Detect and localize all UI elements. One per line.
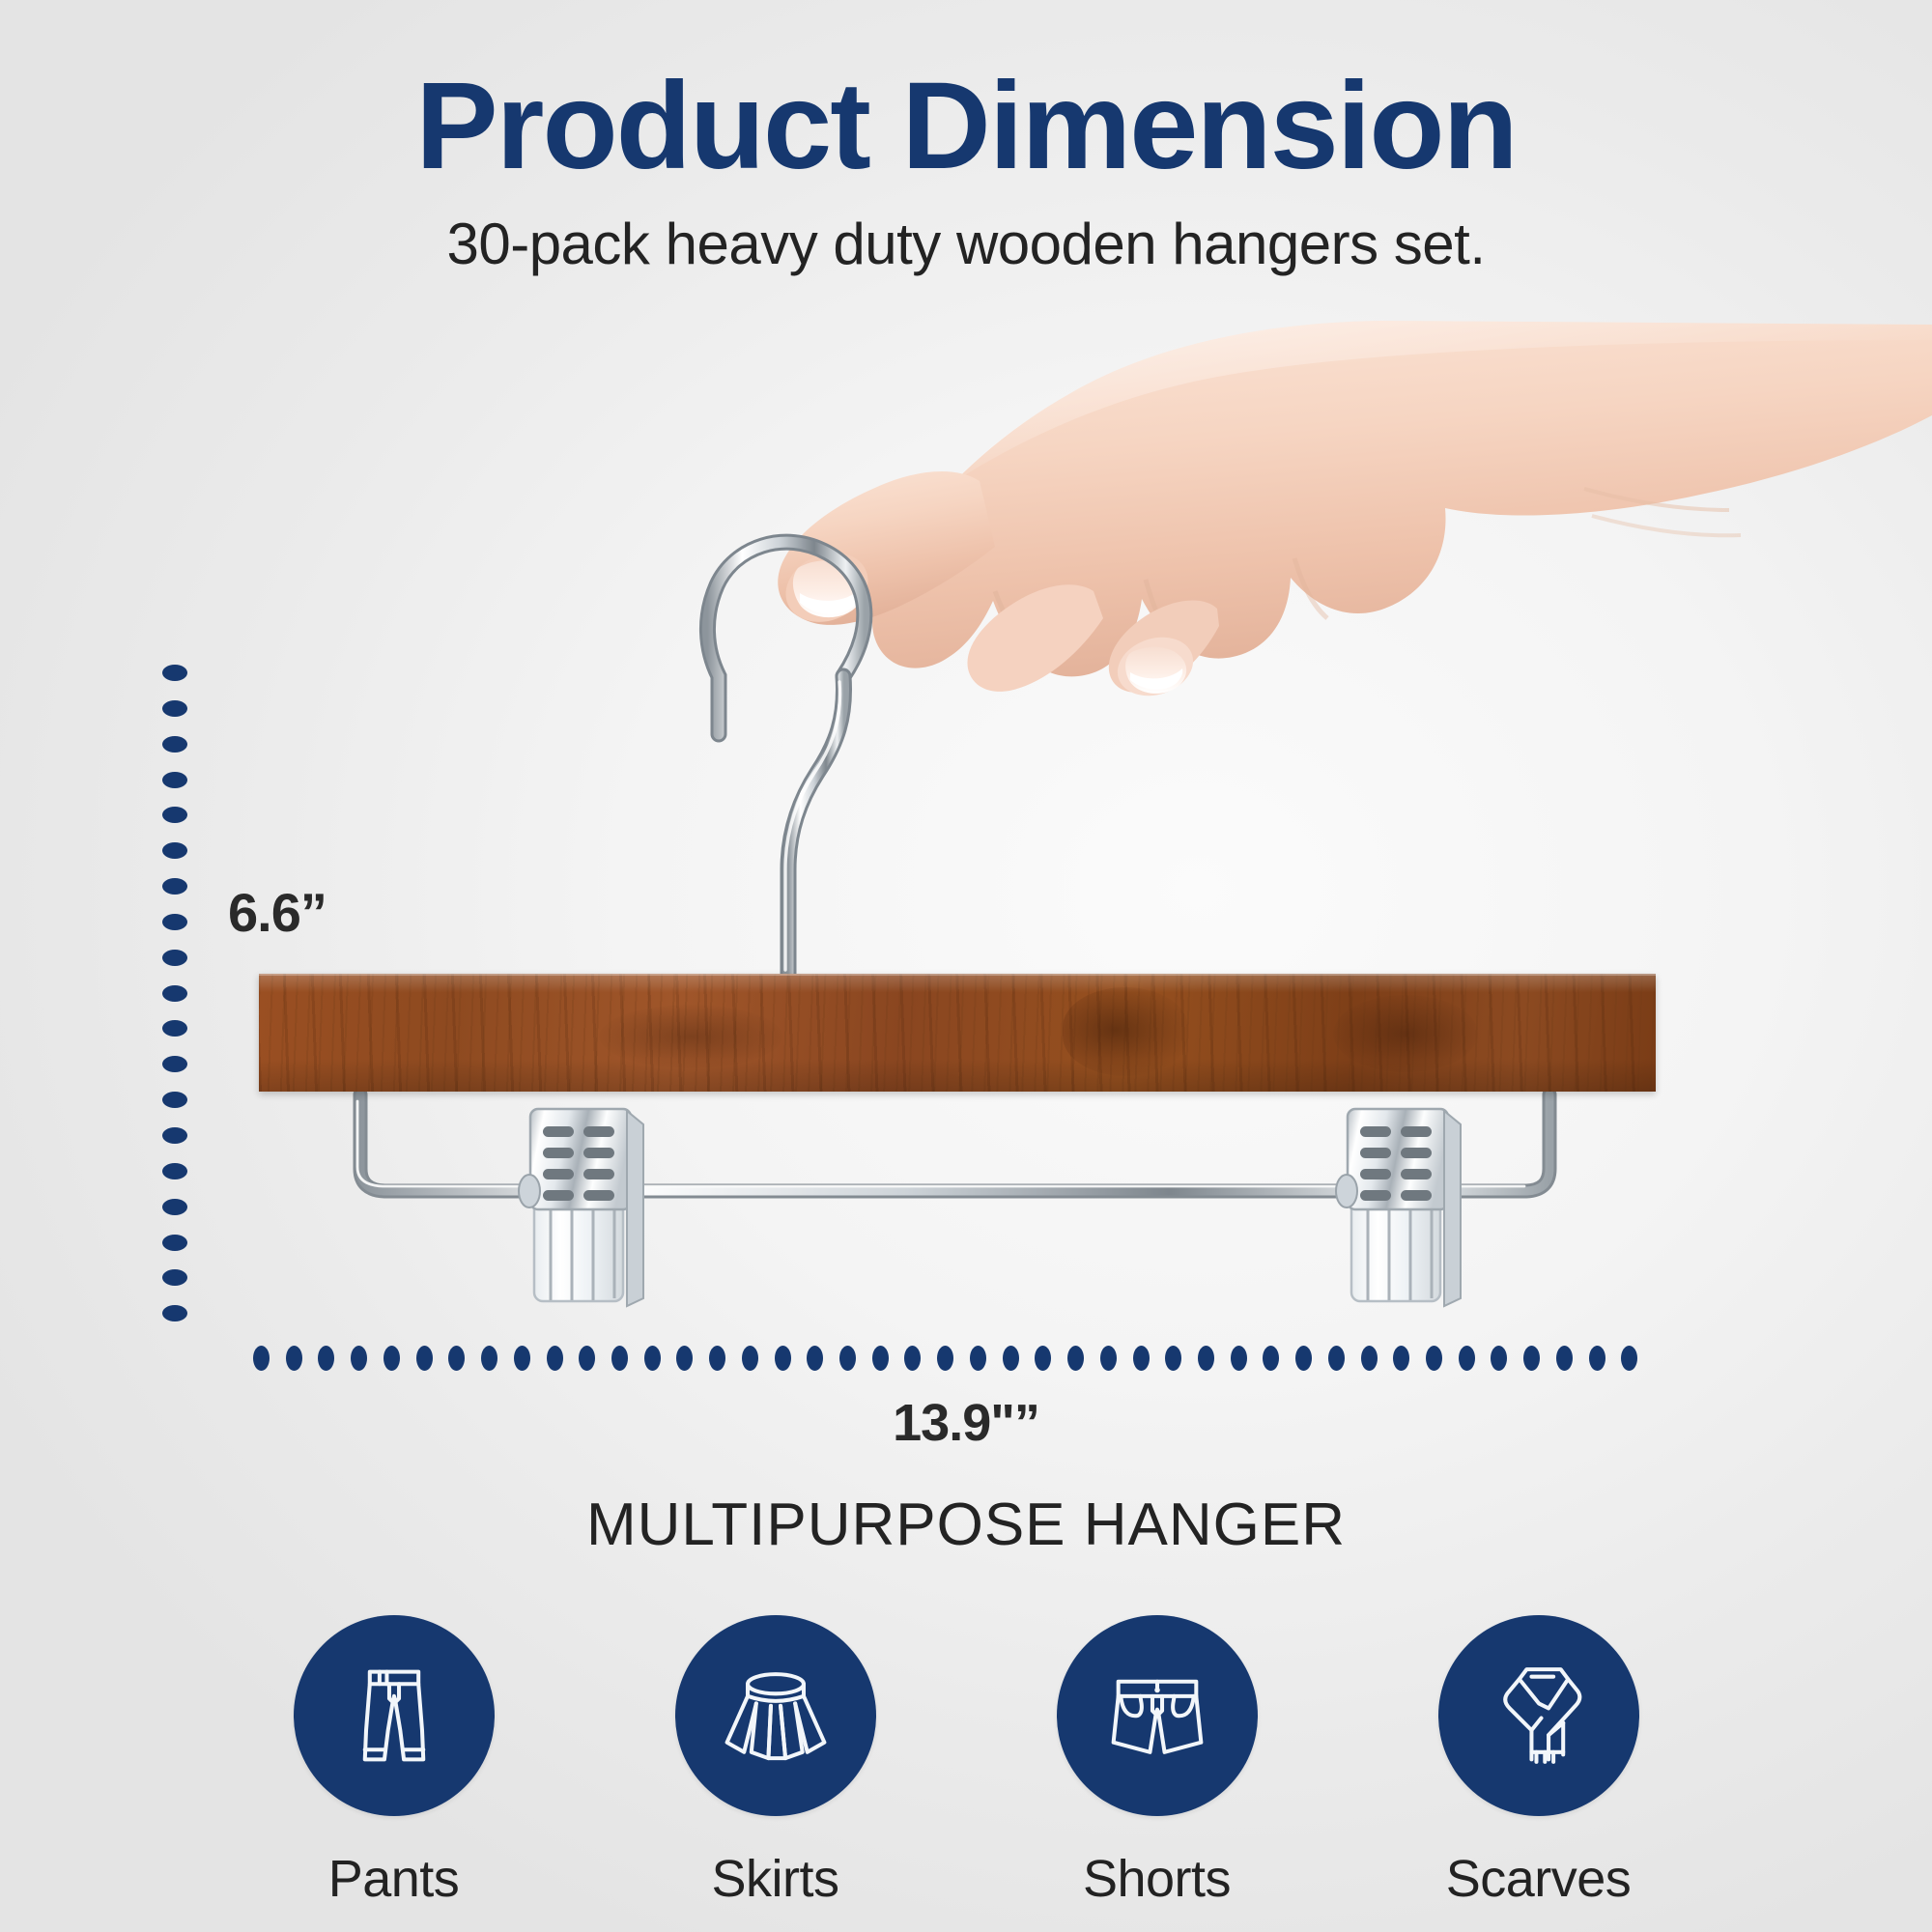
guide-dot bbox=[162, 736, 187, 753]
guide-dot bbox=[162, 1235, 187, 1251]
use-case-label: Pants bbox=[328, 1849, 460, 1909]
shorts-icon bbox=[1096, 1655, 1218, 1776]
hanger-clip-left bbox=[519, 1109, 643, 1306]
wood-grain-knot bbox=[1063, 987, 1188, 1076]
guide-dot bbox=[1003, 1346, 1019, 1371]
guide-dot bbox=[872, 1346, 889, 1371]
use-case-scarves[interactable]: Scarves bbox=[1399, 1615, 1679, 1909]
width-label: 13.9"” bbox=[0, 1393, 1932, 1453]
guide-dot bbox=[1295, 1346, 1312, 1371]
use-case-skirts[interactable]: Skirts bbox=[636, 1615, 916, 1909]
hanger-clip-right bbox=[1336, 1109, 1461, 1306]
guide-dot bbox=[1263, 1346, 1279, 1371]
guide-dot bbox=[1165, 1346, 1181, 1371]
guide-dot bbox=[162, 1127, 187, 1144]
guide-dot bbox=[481, 1346, 497, 1371]
guide-dot bbox=[162, 914, 187, 930]
guide-dot bbox=[970, 1346, 986, 1371]
use-case-label: Shorts bbox=[1083, 1849, 1231, 1909]
use-case-shorts[interactable]: Shorts bbox=[1017, 1615, 1297, 1909]
guide-dot bbox=[416, 1346, 433, 1371]
use-case-pants[interactable]: Pants bbox=[254, 1615, 534, 1909]
page-title: Product Dimension bbox=[0, 60, 1932, 193]
guide-dot bbox=[162, 807, 187, 823]
guide-dot bbox=[162, 1269, 187, 1286]
use-case-label: Skirts bbox=[712, 1849, 839, 1909]
use-case-icon-row: Pants Skirts bbox=[0, 1615, 1932, 1909]
guide-dot bbox=[937, 1346, 953, 1371]
hanger-hook bbox=[707, 542, 864, 974]
hanger-wire-bar bbox=[357, 1094, 1549, 1191]
guide-dot bbox=[351, 1346, 367, 1371]
guide-dot bbox=[162, 1056, 187, 1072]
guide-dot bbox=[162, 700, 187, 717]
guide-dot bbox=[162, 950, 187, 966]
guide-dot bbox=[162, 878, 187, 895]
guide-dot bbox=[1459, 1346, 1475, 1371]
guide-dot bbox=[162, 1020, 187, 1037]
skirt-icon-circle bbox=[675, 1615, 876, 1816]
guide-dot bbox=[579, 1346, 595, 1371]
guide-dot bbox=[162, 1092, 187, 1108]
guide-dot bbox=[742, 1346, 758, 1371]
guide-dot bbox=[1621, 1346, 1637, 1371]
guide-dot bbox=[162, 985, 187, 1002]
guide-dot bbox=[448, 1346, 465, 1371]
guide-dot bbox=[1556, 1346, 1573, 1371]
guide-dot bbox=[162, 665, 187, 681]
guide-dot bbox=[162, 1305, 187, 1321]
guide-dot bbox=[162, 1163, 187, 1179]
guide-dot bbox=[1361, 1346, 1378, 1371]
height-label: 6.6” bbox=[228, 881, 327, 944]
guide-dot bbox=[1231, 1346, 1247, 1371]
guide-dot bbox=[775, 1346, 791, 1371]
pants-icon-circle bbox=[294, 1615, 495, 1816]
guide-dot bbox=[1523, 1346, 1540, 1371]
guide-dot bbox=[1100, 1346, 1117, 1371]
skirt-icon bbox=[715, 1655, 837, 1776]
guide-dot bbox=[1393, 1346, 1409, 1371]
guide-dot bbox=[709, 1346, 725, 1371]
scarf-icon-circle bbox=[1438, 1615, 1639, 1816]
height-dotted-guide bbox=[162, 665, 191, 1341]
guide-dot bbox=[1491, 1346, 1507, 1371]
guide-dot bbox=[286, 1346, 302, 1371]
width-dotted-guide bbox=[253, 1346, 1654, 1375]
pants-icon bbox=[333, 1655, 455, 1776]
guide-dot bbox=[514, 1346, 530, 1371]
guide-dot bbox=[1035, 1346, 1051, 1371]
hand-holding-hanger bbox=[775, 321, 1932, 705]
guide-dot bbox=[384, 1346, 400, 1371]
guide-dot bbox=[1328, 1346, 1345, 1371]
guide-dot bbox=[676, 1346, 693, 1371]
use-case-label: Scarves bbox=[1446, 1849, 1632, 1909]
guide-dot bbox=[1133, 1346, 1150, 1371]
guide-dot bbox=[162, 1199, 187, 1215]
scarf-icon bbox=[1478, 1655, 1600, 1776]
guide-dot bbox=[1426, 1346, 1442, 1371]
guide-dot bbox=[1198, 1346, 1214, 1371]
guide-dot bbox=[547, 1346, 563, 1371]
guide-dot bbox=[644, 1346, 661, 1371]
guide-dot bbox=[611, 1346, 628, 1371]
guide-dot bbox=[839, 1346, 856, 1371]
guide-dot bbox=[1067, 1346, 1084, 1371]
guide-dot bbox=[253, 1346, 270, 1371]
guide-dot bbox=[904, 1346, 921, 1371]
guide-dot bbox=[162, 842, 187, 859]
page-subtitle: 30-pack heavy duty wooden hangers set. bbox=[0, 211, 1932, 277]
wood-grain-knot bbox=[599, 1005, 782, 1068]
guide-dot bbox=[318, 1346, 334, 1371]
infographic-canvas: Product Dimension 30-pack heavy duty woo… bbox=[0, 0, 1932, 1932]
guide-dot bbox=[162, 772, 187, 788]
product-caption: MULTIPURPOSE HANGER bbox=[0, 1491, 1932, 1559]
shorts-icon-circle bbox=[1057, 1615, 1258, 1816]
guide-dot bbox=[807, 1346, 823, 1371]
guide-dot bbox=[1589, 1346, 1605, 1371]
wood-grain-knot bbox=[1333, 995, 1478, 1072]
